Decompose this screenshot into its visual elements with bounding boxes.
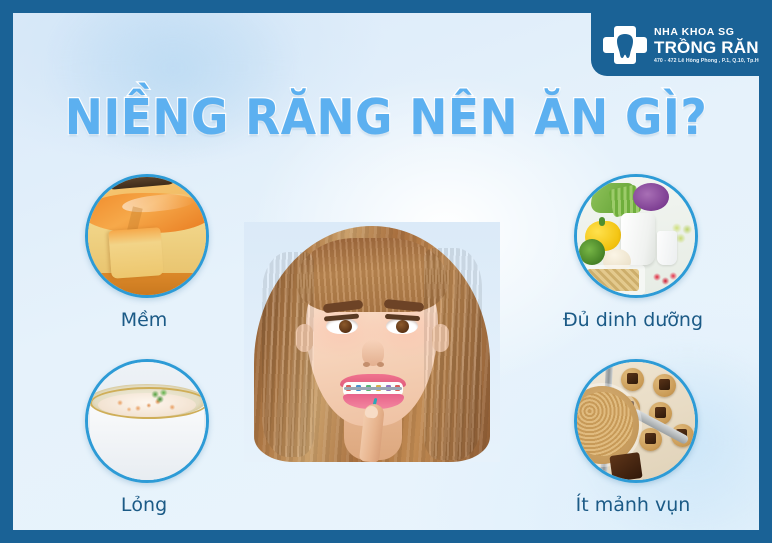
fingernail <box>364 405 378 418</box>
label-long: Lỏng <box>64 494 224 516</box>
food-circle-it-manh-vun[interactable] <box>574 359 698 483</box>
logo-text-block: NHA KHOA SG TRỒNG RĂNG 470 - 472 Lê Hồng… <box>654 25 759 64</box>
nostril-left <box>363 362 370 367</box>
page-title: NIỀNG RĂNG NÊN ĂN GÌ? <box>39 93 733 143</box>
porridge-toppings <box>102 394 192 416</box>
chocolate-chunk <box>659 379 670 390</box>
iris-right <box>396 320 409 333</box>
brace-archwire <box>344 387 402 390</box>
food-circle-long[interactable] <box>85 359 209 483</box>
poster-background: NHA KHOA SG TRỒNG RĂNG 470 - 472 Lê Hồng… <box>13 13 759 530</box>
hair-lock-right <box>424 248 482 460</box>
chocolate-chunk <box>645 433 656 444</box>
red-currants <box>651 269 681 289</box>
purple-cabbage <box>633 183 669 211</box>
infographic-poster: NHA KHOA SG TRỒNG RĂNG 470 - 472 Lê Hồng… <box>0 0 772 543</box>
chocolate-chunk-cookies-photo <box>577 362 695 480</box>
rice-porridge-bowl-photo <box>88 362 206 480</box>
oat-grains <box>587 269 639 291</box>
food-circle-du-dinh-duong[interactable] <box>574 174 698 298</box>
spoon <box>105 174 176 190</box>
parsley-garnish <box>148 388 172 404</box>
label-mem: Mềm <box>64 309 224 331</box>
caramel-flan-photo <box>88 177 206 295</box>
vegetables-milk-grains-photo <box>577 177 695 295</box>
braces-woman-photo <box>244 222 500 462</box>
nostril-right <box>377 362 384 367</box>
chocolate-square <box>609 452 642 482</box>
label-du-dinh-duong: Đủ dinh dưỡng <box>523 309 743 331</box>
label-it-manh-vun: Ít mảnh vụn <box>523 494 743 516</box>
chocolate-chunk <box>627 373 638 384</box>
food-circle-mem[interactable] <box>85 174 209 298</box>
logo-line-1: NHA KHOA SG <box>654 27 759 38</box>
clinic-logo-badge: NHA KHOA SG TRỒNG RĂNG 470 - 472 Lê Hồng… <box>591 13 759 76</box>
logo-line-2: TRỒNG RĂNG <box>654 39 759 56</box>
logo-address: 470 - 472 Lê Hồng Phong , P.1, Q.10, Tp.… <box>654 59 759 64</box>
cookie-crumbs <box>574 392 633 456</box>
chocolate-chunk <box>655 407 666 418</box>
iris-left <box>339 320 352 333</box>
broccoli <box>579 239 605 265</box>
dental-cross-tooth-icon <box>602 22 648 68</box>
flan-slice <box>108 227 163 279</box>
yogurt-glass <box>657 231 677 265</box>
hair-lock-left <box>262 252 314 457</box>
pepper-stem <box>599 217 605 226</box>
